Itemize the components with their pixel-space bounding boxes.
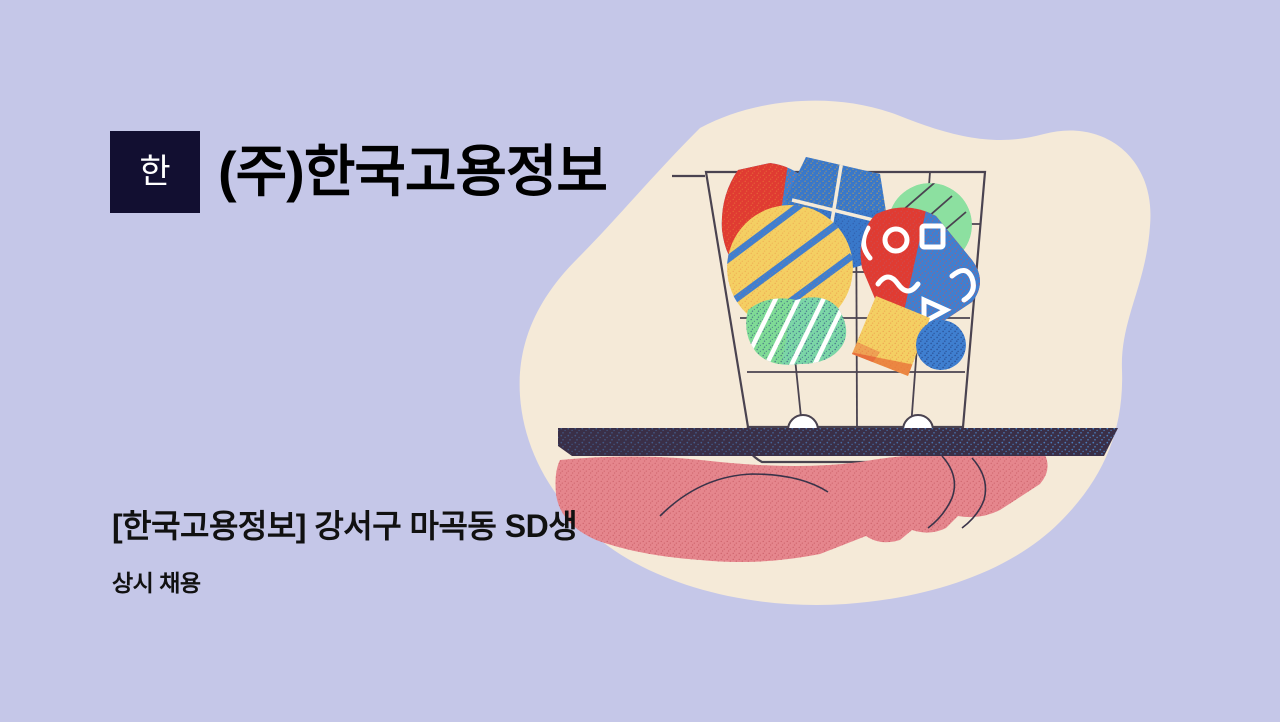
shopping-cart (672, 172, 988, 462)
company-header: 한 (주)한국고용정보 (110, 131, 607, 213)
promotional-banner: 한 (주)한국고용정보 [한국고용정보] 강서구 마곡동 SD생 상시 채용 (0, 0, 1280, 722)
company-logo-badge: 한 (110, 131, 200, 213)
item-green-blue-blob (735, 288, 855, 378)
item-red-blue-motif-tag (850, 192, 1000, 348)
gift-bow (826, 121, 876, 163)
hand (540, 440, 1080, 570)
tag-motifs (863, 226, 973, 322)
item-green-striped-circle (880, 178, 972, 268)
cart-grid-horizontal (723, 224, 980, 372)
item-yellow-striped-circle (700, 190, 853, 352)
item-blue-gift-box (768, 140, 921, 305)
item-red-blue-bauble (700, 150, 850, 300)
item-blue-sphere (916, 320, 966, 370)
company-name: (주)한국고용정보 (218, 144, 607, 200)
cart-basket (706, 172, 985, 427)
cart-grid-vertical (776, 172, 930, 427)
cart-frame (746, 427, 988, 462)
cream-blob (520, 101, 1151, 605)
job-posting-title: [한국고용정보] 강서구 마곡동 SD생 (112, 506, 577, 546)
company-logo-letter: 한 (139, 155, 170, 189)
hand-holding-shopping-cart-illustration (0, 0, 1280, 722)
banner-background (0, 0, 1280, 722)
cart-wheels (788, 415, 933, 444)
item-yellow-orange-square (840, 290, 950, 390)
cart-shelf-board (558, 426, 1120, 458)
job-recruitment-status: 상시 채용 (112, 570, 201, 598)
